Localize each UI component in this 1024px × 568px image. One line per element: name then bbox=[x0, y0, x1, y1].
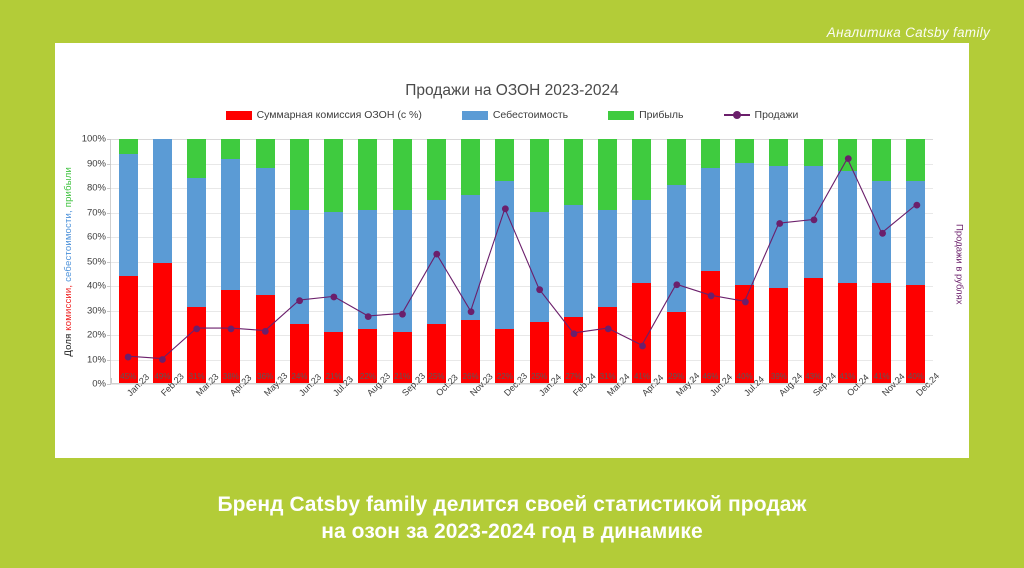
bar-segment-profit bbox=[530, 139, 549, 212]
x-axis-label-column: Nov.24 bbox=[865, 387, 899, 447]
bar-segment-profit bbox=[221, 139, 240, 159]
x-axis-label-column: Mar.23 bbox=[179, 387, 213, 447]
bar-column[interactable]: 29% bbox=[659, 139, 693, 383]
bar-data-label: 24% bbox=[291, 372, 307, 381]
bar-data-label: 40% bbox=[908, 372, 924, 381]
bar-segment-cost bbox=[393, 210, 412, 332]
bar-data-label: 41% bbox=[839, 372, 855, 381]
bar-segment-profit bbox=[769, 139, 788, 166]
bar-segment-cost bbox=[735, 163, 754, 285]
stacked-bar[interactable] bbox=[564, 139, 583, 383]
bar-segment-cost bbox=[906, 181, 925, 286]
y-axis-tick-label: 10% bbox=[87, 354, 106, 365]
stacked-bar[interactable] bbox=[872, 139, 891, 383]
stacked-bar[interactable] bbox=[906, 139, 925, 383]
bar-column[interactable]: 25% bbox=[522, 139, 556, 383]
bar-column[interactable]: 27% bbox=[556, 139, 590, 383]
bar-segment-cost bbox=[530, 212, 549, 322]
y-axis-left-label-part: Доля bbox=[63, 330, 74, 356]
bar-column[interactable]: 21% bbox=[385, 139, 419, 383]
bar-data-label: 29% bbox=[668, 372, 684, 381]
y-axis-tick-label: 70% bbox=[87, 207, 106, 218]
bar-data-label: 43% bbox=[805, 372, 821, 381]
x-axis-label-column: Dec.23 bbox=[487, 387, 521, 447]
caption-line-1: Бренд Catsby family делится своей статис… bbox=[0, 492, 1024, 519]
legend-label: Прибыль bbox=[639, 109, 683, 121]
bar-column[interactable]: 40% bbox=[899, 139, 933, 383]
bar-segment-profit bbox=[632, 139, 651, 200]
bar-segment-profit bbox=[187, 139, 206, 178]
bar-column[interactable]: 22% bbox=[488, 139, 522, 383]
bar-segment-cost bbox=[427, 200, 446, 324]
bar-segment-cost bbox=[153, 139, 172, 263]
stacked-bar[interactable] bbox=[598, 139, 617, 383]
bar-segment-cost bbox=[221, 159, 240, 291]
bar-data-label: 41% bbox=[634, 372, 650, 381]
y-axis-tick-label: 30% bbox=[87, 305, 106, 316]
bar-column[interactable]: 39% bbox=[762, 139, 796, 383]
bar-column[interactable]: 24% bbox=[282, 139, 316, 383]
bar-column[interactable]: 49% bbox=[145, 139, 179, 383]
bar-segment-commission bbox=[735, 285, 754, 383]
bar-segment-profit bbox=[735, 139, 754, 163]
x-axis-label-column: Jul.24 bbox=[727, 387, 761, 447]
y-axis-left-label-part: комиссии, bbox=[63, 282, 74, 331]
y-axis-tick-mark bbox=[107, 384, 111, 385]
bar-column[interactable]: 22% bbox=[351, 139, 385, 383]
stacked-bar[interactable] bbox=[187, 139, 206, 383]
bar-segment-profit bbox=[256, 139, 275, 168]
bar-data-label: 45% bbox=[120, 372, 136, 381]
legend-color-swatch bbox=[226, 111, 252, 120]
stacked-bar[interactable] bbox=[427, 139, 446, 383]
chart-title: Продажи на ОЗОН 2023-2024 bbox=[55, 82, 969, 100]
x-axis-label-column: Aug.24 bbox=[762, 387, 796, 447]
bar-segment-commission bbox=[872, 283, 891, 383]
x-axis-label-column: Mar.24 bbox=[590, 387, 624, 447]
watermark-text: Аналитика Catsby family bbox=[827, 25, 990, 40]
stacked-bar[interactable] bbox=[393, 139, 412, 383]
bar-segment-cost bbox=[119, 154, 138, 276]
bar-segment-cost bbox=[701, 168, 720, 270]
bar-segment-profit bbox=[495, 139, 514, 180]
bar-segment-profit bbox=[598, 139, 617, 210]
x-axis-label-column: Jun.24 bbox=[693, 387, 727, 447]
x-axis-label-column: Apr.24 bbox=[624, 387, 658, 447]
x-axis-labels: Jan.23Feb.23Mar.23Apr.23May.23Jun.23Jul.… bbox=[110, 387, 933, 447]
stacked-bar[interactable] bbox=[667, 139, 686, 383]
x-axis-label-column: Jan.23 bbox=[110, 387, 144, 447]
y-axis-tick-label: 80% bbox=[87, 183, 106, 194]
bar-segment-cost bbox=[804, 166, 823, 278]
bar-segment-cost bbox=[256, 168, 275, 295]
bar-column[interactable]: 25% bbox=[419, 139, 453, 383]
bar-data-label: 26% bbox=[463, 372, 479, 381]
x-axis-label-column: Feb.24 bbox=[556, 387, 590, 447]
bar-segment-profit bbox=[427, 139, 446, 200]
bar-data-label: 38% bbox=[223, 372, 239, 381]
bar-segment-cost bbox=[872, 181, 891, 283]
x-axis-label-column: Dec.24 bbox=[899, 387, 933, 447]
y-axis-tick-label: 40% bbox=[87, 281, 106, 292]
chart-legend: Суммарная комиссия ОЗОН (с %)Себестоимос… bbox=[55, 109, 969, 121]
bar-segment-cost bbox=[632, 200, 651, 283]
plot-grid: 45%49%31%38%36%24%21%22%21%25%26%22%25%2… bbox=[110, 139, 933, 384]
bar-column[interactable]: 40% bbox=[728, 139, 762, 383]
x-axis-label-column: Jul.23 bbox=[316, 387, 350, 447]
legend-label: Суммарная комиссия ОЗОН (с %) bbox=[257, 109, 422, 121]
stacked-bar[interactable] bbox=[153, 139, 172, 383]
bar-series: 45%49%31%38%36%24%21%22%21%25%26%22%25%2… bbox=[111, 139, 933, 383]
bar-segment-cost bbox=[838, 171, 857, 283]
bar-segment-cost bbox=[461, 195, 480, 319]
bar-segment-commission bbox=[221, 290, 240, 383]
bar-data-label: 31% bbox=[189, 372, 205, 381]
bar-column[interactable]: 31% bbox=[591, 139, 625, 383]
bar-segment-cost bbox=[598, 210, 617, 308]
y-axis-tick-label: 0% bbox=[92, 379, 106, 390]
stacked-bar[interactable] bbox=[119, 139, 138, 383]
bar-data-label: 22% bbox=[360, 372, 376, 381]
bar-column[interactable]: 31% bbox=[180, 139, 214, 383]
stacked-bar[interactable] bbox=[358, 139, 377, 383]
x-axis-label-column: Nov.23 bbox=[453, 387, 487, 447]
x-axis-label-column: May.24 bbox=[659, 387, 693, 447]
bar-column[interactable]: 41% bbox=[830, 139, 864, 383]
stacked-bar[interactable] bbox=[461, 139, 480, 383]
bar-segment-profit bbox=[872, 139, 891, 180]
y-axis-right-label: Продажи в рублях bbox=[951, 184, 967, 344]
y-axis-left-label: Доля комиссии, себестоимости, прибыли bbox=[59, 139, 77, 384]
stacked-bar[interactable] bbox=[838, 139, 857, 383]
legend-label: Продажи bbox=[755, 109, 799, 121]
bar-column[interactable]: 38% bbox=[214, 139, 248, 383]
bar-column[interactable]: 43% bbox=[796, 139, 830, 383]
bar-data-label: 25% bbox=[428, 372, 444, 381]
x-axis-label-column: Jun.23 bbox=[281, 387, 315, 447]
x-axis-tick-mark bbox=[111, 378, 112, 383]
y-axis-ticks: 100%90%80%70%60%50%40%30%20%10%0% bbox=[77, 139, 109, 384]
bar-data-label: 27% bbox=[565, 372, 581, 381]
plot-area: Доля комиссии, себестоимости, прибыли Пр… bbox=[55, 139, 969, 429]
x-axis-label-column: Feb.23 bbox=[144, 387, 178, 447]
stacked-bar[interactable] bbox=[324, 139, 343, 383]
stacked-bar[interactable] bbox=[769, 139, 788, 383]
bar-column[interactable]: 26% bbox=[454, 139, 488, 383]
bar-segment-profit bbox=[564, 139, 583, 205]
stacked-bar[interactable] bbox=[804, 139, 823, 383]
bar-data-label: 41% bbox=[874, 372, 890, 381]
bar-segment-commission bbox=[256, 295, 275, 383]
legend-item[interactable]: Суммарная комиссия ОЗОН (с %) bbox=[226, 109, 422, 121]
bar-segment-profit bbox=[701, 139, 720, 168]
bar-segment-profit bbox=[290, 139, 309, 210]
bar-segment-cost bbox=[187, 178, 206, 307]
x-axis-label-column: Jan.24 bbox=[522, 387, 556, 447]
x-axis-label-column: Apr.23 bbox=[213, 387, 247, 447]
stacked-bar[interactable] bbox=[221, 139, 240, 383]
bar-segment-profit bbox=[119, 139, 138, 154]
bar-segment-commission bbox=[769, 288, 788, 383]
bar-segment-commission bbox=[632, 283, 651, 383]
stacked-bar[interactable] bbox=[495, 139, 514, 383]
stacked-bar[interactable] bbox=[290, 139, 309, 383]
caption-line-2: на озон за 2023-2024 год в динамике bbox=[0, 519, 1024, 546]
stacked-bar[interactable] bbox=[735, 139, 754, 383]
y-axis-tick-label: 20% bbox=[87, 330, 106, 341]
stacked-bar[interactable] bbox=[701, 139, 720, 383]
bar-data-label: 49% bbox=[154, 372, 170, 381]
legend-color-swatch bbox=[462, 111, 488, 120]
y-axis-right-label-text: Продажи в рублях bbox=[954, 224, 965, 305]
legend-item[interactable]: Прибыль bbox=[608, 109, 683, 121]
legend-label: Себестоимость bbox=[493, 109, 568, 121]
bar-segment-cost bbox=[495, 181, 514, 330]
stacked-bar[interactable] bbox=[632, 139, 651, 383]
bar-segment-cost bbox=[667, 185, 686, 312]
bar-data-label: 31% bbox=[600, 372, 616, 381]
bar-segment-commission bbox=[119, 276, 138, 383]
chart-card: Продажи на ОЗОН 2023-2024 Суммарная коми… bbox=[55, 43, 969, 458]
bar-segment-commission bbox=[153, 263, 172, 383]
bar-segment-cost bbox=[769, 166, 788, 288]
bar-data-label: 21% bbox=[394, 372, 410, 381]
legend-item[interactable]: Себестоимость bbox=[462, 109, 568, 121]
y-axis-tick-label: 50% bbox=[87, 256, 106, 267]
bar-segment-cost bbox=[564, 205, 583, 317]
x-axis-label-column: Oct.24 bbox=[830, 387, 864, 447]
bar-segment-profit bbox=[393, 139, 412, 210]
y-axis-tick-label: 90% bbox=[87, 158, 106, 169]
bar-segment-profit bbox=[906, 139, 925, 180]
legend-item[interactable]: Продажи bbox=[724, 109, 799, 121]
bar-segment-profit bbox=[324, 139, 343, 212]
bar-segment-commission bbox=[906, 285, 925, 383]
bar-data-label: 46% bbox=[702, 372, 718, 381]
bar-data-label: 40% bbox=[737, 372, 753, 381]
bottom-caption: Бренд Catsby family делится своей статис… bbox=[0, 492, 1024, 546]
bar-segment-profit bbox=[667, 139, 686, 185]
x-axis-label-column: Oct.23 bbox=[419, 387, 453, 447]
bar-segment-cost bbox=[358, 210, 377, 330]
bar-data-label: 39% bbox=[771, 372, 787, 381]
legend-line-icon bbox=[724, 111, 750, 120]
bar-column[interactable]: 21% bbox=[317, 139, 351, 383]
stacked-bar[interactable] bbox=[256, 139, 275, 383]
bar-column[interactable]: 36% bbox=[248, 139, 282, 383]
legend-color-swatch bbox=[608, 111, 634, 120]
y-axis-tick-label: 100% bbox=[82, 134, 106, 145]
bar-segment-commission bbox=[701, 271, 720, 383]
bar-segment-commission bbox=[804, 278, 823, 383]
bar-data-label: 36% bbox=[257, 372, 273, 381]
bar-segment-commission bbox=[838, 283, 857, 383]
bar-segment-cost bbox=[324, 212, 343, 332]
y-axis-left-label-part: прибыли bbox=[63, 167, 74, 207]
bar-segment-cost bbox=[290, 210, 309, 325]
bar-data-label: 22% bbox=[497, 372, 513, 381]
y-axis-tick-label: 60% bbox=[87, 232, 106, 243]
bar-column[interactable]: 45% bbox=[111, 139, 145, 383]
bar-column[interactable]: 41% bbox=[865, 139, 899, 383]
bar-data-label: 21% bbox=[326, 372, 342, 381]
bar-segment-profit bbox=[358, 139, 377, 210]
stacked-bar[interactable] bbox=[530, 139, 549, 383]
x-axis-label-column: Aug.23 bbox=[350, 387, 384, 447]
bar-segment-profit bbox=[804, 139, 823, 166]
bar-data-label: 25% bbox=[531, 372, 547, 381]
y-axis-left-label-part: себестоимости, bbox=[63, 207, 74, 282]
bar-segment-profit bbox=[461, 139, 480, 195]
bar-column[interactable]: 46% bbox=[693, 139, 727, 383]
x-axis-label-column: Sep.24 bbox=[796, 387, 830, 447]
x-axis-label-column: Sep.23 bbox=[384, 387, 418, 447]
x-axis-label-column: May.23 bbox=[247, 387, 281, 447]
bar-segment-profit bbox=[838, 139, 857, 171]
bar-column[interactable]: 41% bbox=[625, 139, 659, 383]
